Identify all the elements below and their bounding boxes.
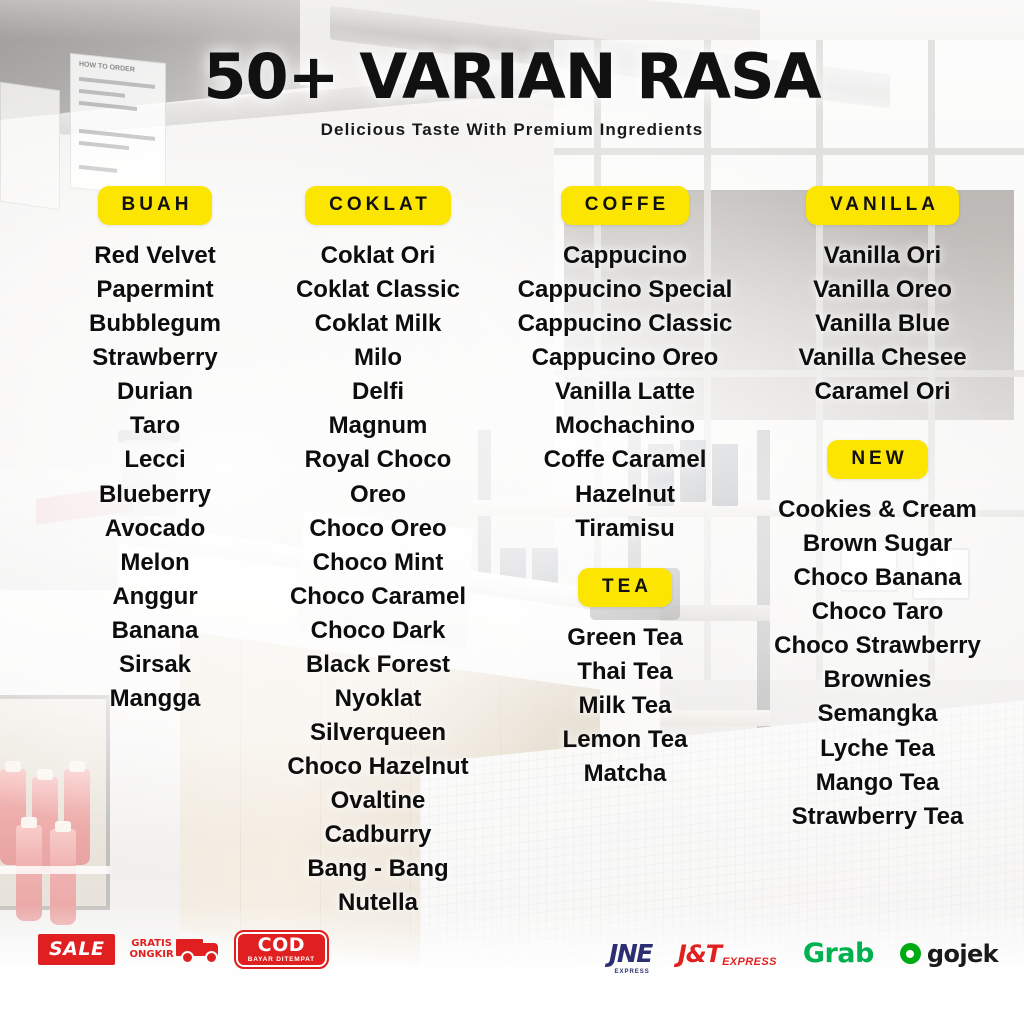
list-item: Mochachino bbox=[495, 409, 755, 443]
list-item: Cappucino bbox=[495, 239, 755, 273]
list-item: Coklat Ori bbox=[258, 239, 498, 273]
list-item: Vanilla Ori bbox=[740, 239, 1024, 273]
cod-label: COD bbox=[248, 936, 315, 955]
list-item: Vanilla Blue bbox=[740, 307, 1024, 341]
list-item: Matcha bbox=[495, 757, 755, 791]
list-item: Choco Taro bbox=[730, 595, 1024, 629]
category-list-buah: Red Velvet Papermint Bubblegum Strawberr… bbox=[30, 239, 280, 716]
list-item: Tiramisu bbox=[495, 512, 755, 546]
list-item: Red Velvet bbox=[30, 239, 280, 273]
list-item: Coklat Milk bbox=[258, 307, 498, 341]
list-item: Milo bbox=[258, 341, 498, 375]
list-item: Avocado bbox=[30, 512, 280, 546]
list-item: Cookies & Cream bbox=[730, 493, 1024, 527]
page-title: 50+ VARIAN RASA bbox=[0, 40, 1024, 113]
list-item: Delfi bbox=[258, 375, 498, 409]
sale-tag-icon: SALE bbox=[38, 934, 115, 965]
list-item: Choco Banana bbox=[730, 561, 1024, 595]
list-item: Bubblegum bbox=[30, 307, 280, 341]
list-item: Ovaltine bbox=[258, 784, 498, 818]
category-badge-buah: BUAH bbox=[98, 186, 213, 225]
jt-sublabel: EXPRESS bbox=[722, 956, 777, 968]
list-item: Strawberry Tea bbox=[730, 800, 1024, 834]
gojek-mark-icon bbox=[900, 943, 921, 964]
page-subtitle: Delicious Taste With Premium Ingredients bbox=[0, 120, 1024, 140]
list-item: Choco Hazelnut bbox=[258, 750, 498, 784]
grab-label: Grab bbox=[803, 938, 874, 969]
list-item: Mango Tea bbox=[730, 766, 1024, 800]
category-badge-vanilla: VANILLA bbox=[806, 186, 959, 225]
category-list-coklat: Coklat Ori Coklat Classic Coklat Milk Mi… bbox=[258, 239, 498, 921]
list-item: Vanilla Oreo bbox=[740, 273, 1024, 307]
list-item: Brownies bbox=[730, 663, 1024, 697]
cod-icon: COD BAYAR DITEMPAT bbox=[234, 930, 329, 969]
list-item: Black Forest bbox=[258, 648, 498, 682]
courier-logos: JNE EXPRESS J&T EXPRESS Grab gojek bbox=[609, 938, 998, 969]
gojek-logo-icon: gojek bbox=[900, 940, 998, 968]
list-item: Anggur bbox=[30, 580, 280, 614]
category-badge-tea: TEA bbox=[578, 568, 672, 607]
list-item: Caramel Ori bbox=[740, 375, 1024, 409]
list-item: Cappucino Special bbox=[495, 273, 755, 307]
category-list-vanilla: Vanilla Ori Vanilla Oreo Vanilla Blue Va… bbox=[740, 239, 1024, 409]
list-item: Mangga bbox=[30, 682, 280, 716]
gratis-ongkir-badge: GRATIS ONGKIR bbox=[129, 935, 219, 965]
list-item: Oreo bbox=[258, 478, 498, 512]
delivery-truck-icon bbox=[176, 935, 220, 965]
list-item: Blueberry bbox=[30, 478, 280, 512]
list-item: Banana bbox=[30, 614, 280, 648]
promo-badges: SALE GRATIS ONGKIR COD BAYAR DITEMPAT bbox=[38, 930, 329, 969]
category-column-buah: BUAH Red Velvet Papermint Bubblegum Stra… bbox=[30, 186, 280, 716]
list-item: Nyoklat bbox=[258, 682, 498, 716]
list-item: Sirsak bbox=[30, 648, 280, 682]
list-item: Nutella bbox=[258, 886, 498, 920]
category-column-new: NEW Cookies & Cream Brown Sugar Choco Ba… bbox=[730, 440, 1024, 834]
grab-logo-icon: Grab bbox=[803, 938, 874, 969]
list-item: Melon bbox=[30, 546, 280, 580]
category-badge-coklat: COKLAT bbox=[305, 186, 451, 225]
category-column-vanilla: VANILLA Vanilla Ori Vanilla Oreo Vanilla… bbox=[740, 186, 1024, 409]
list-item: Silverqueen bbox=[258, 716, 498, 750]
list-item: Royal Choco bbox=[258, 443, 498, 477]
list-item: Papermint bbox=[30, 273, 280, 307]
jne-logo-icon: JNE EXPRESS bbox=[609, 939, 652, 968]
list-item: Lyche Tea bbox=[730, 732, 1024, 766]
category-list-new: Cookies & Cream Brown Sugar Choco Banana… bbox=[730, 493, 1024, 834]
list-item: Lecci bbox=[30, 443, 280, 477]
list-item: Brown Sugar bbox=[730, 527, 1024, 561]
list-item: Vanilla Chesee bbox=[740, 341, 1024, 375]
list-item: Choco Dark bbox=[258, 614, 498, 648]
category-column-coklat: COKLAT Coklat Ori Coklat Classic Coklat … bbox=[258, 186, 498, 921]
gratis-ongkir-label: GRATIS ONGKIR bbox=[129, 939, 173, 959]
list-item: Cappucino Classic bbox=[495, 307, 755, 341]
list-item: Bang - Bang bbox=[258, 852, 498, 886]
list-item: Strawberry bbox=[30, 341, 280, 375]
jt-express-logo-icon: J&T EXPRESS bbox=[678, 940, 777, 968]
list-item: Milk Tea bbox=[495, 689, 755, 723]
cod-sublabel: BAYAR DITEMPAT bbox=[248, 956, 315, 963]
list-item: Coklat Classic bbox=[258, 273, 498, 307]
list-item: Cadburry bbox=[258, 818, 498, 852]
list-item: Choco Oreo bbox=[258, 512, 498, 546]
category-column-tea: TEA Green Tea Thai Tea Milk Tea Lemon Te… bbox=[495, 568, 755, 791]
list-item: Green Tea bbox=[495, 621, 755, 655]
gojek-label: gojek bbox=[927, 940, 998, 968]
category-badge-coffe: COFFE bbox=[561, 186, 689, 225]
category-badge-new: NEW bbox=[827, 440, 927, 479]
list-item: Choco Strawberry bbox=[730, 629, 1024, 663]
list-item: Choco Mint bbox=[258, 546, 498, 580]
category-list-coffe: Cappucino Cappucino Special Cappucino Cl… bbox=[495, 239, 755, 546]
jne-sublabel: EXPRESS bbox=[614, 969, 649, 975]
category-column-coffe: COFFE Cappucino Cappucino Special Cappuc… bbox=[495, 186, 755, 546]
list-item: Hazelnut bbox=[495, 478, 755, 512]
list-item: Taro bbox=[30, 409, 280, 443]
category-list-tea: Green Tea Thai Tea Milk Tea Lemon Tea Ma… bbox=[495, 621, 755, 791]
jne-label: JNE bbox=[609, 939, 652, 968]
list-item: Lemon Tea bbox=[495, 723, 755, 757]
jt-label: J&T bbox=[678, 940, 721, 968]
list-item: Semangka bbox=[730, 697, 1024, 731]
list-item: Coffe Caramel bbox=[495, 443, 755, 477]
list-item: Thai Tea bbox=[495, 655, 755, 689]
list-item: Durian bbox=[30, 375, 280, 409]
list-item: Magnum bbox=[258, 409, 498, 443]
list-item: Cappucino Oreo bbox=[495, 341, 755, 375]
list-item: Choco Caramel bbox=[258, 580, 498, 614]
list-item: Vanilla Latte bbox=[495, 375, 755, 409]
